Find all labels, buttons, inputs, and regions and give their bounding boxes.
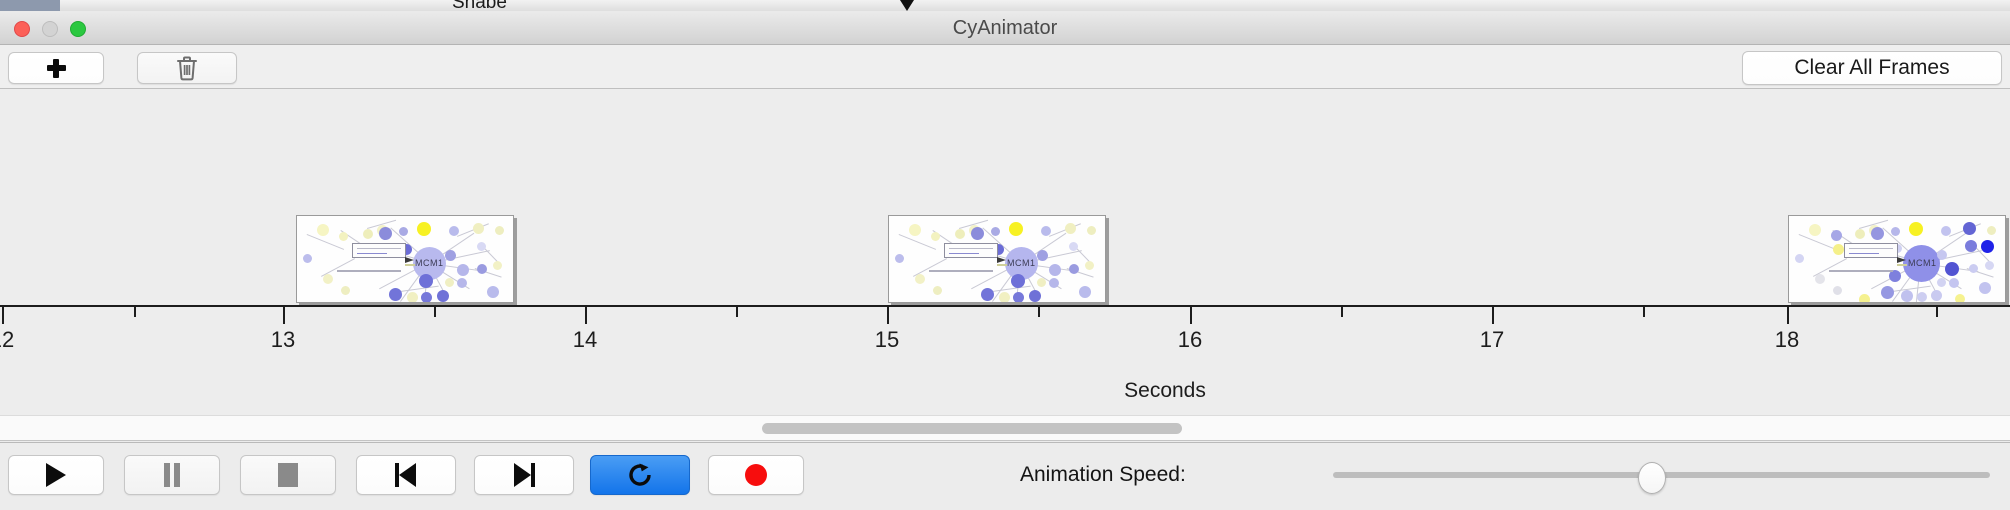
annotation-callout [1844, 243, 1898, 258]
background-window-sidebar [0, 0, 60, 11]
axis-tick-minor [1936, 307, 1938, 317]
axis-tick-label: 14 [573, 327, 597, 353]
annotation-callout [352, 243, 406, 258]
timeline-scrollbar-thumb[interactable] [762, 423, 1182, 434]
axis-tick-minor [1643, 307, 1645, 317]
skip-end-button[interactable] [474, 455, 574, 495]
toolbar: Clear All Frames [0, 45, 2010, 89]
add-frame-button[interactable] [8, 52, 104, 84]
axis-tick-minor [434, 307, 436, 317]
hub-node-label: MCM1 [1007, 258, 1036, 268]
timeline-scrollbar[interactable] [0, 415, 2010, 441]
axis-tick-major [2, 307, 4, 324]
hub-node-label: MCM1 [1908, 258, 1937, 268]
pause-icon [163, 463, 181, 487]
axis-title: Seconds [1124, 379, 1206, 403]
network-thumbnail-canvas: MCM1 [1789, 216, 2005, 302]
record-button[interactable] [708, 455, 804, 495]
background-window-label: Shape [452, 0, 507, 8]
skip-start-button[interactable] [356, 455, 456, 495]
axis-tick-major [585, 307, 587, 324]
animation-speed-label: Animation Speed: [1020, 455, 1186, 495]
clear-all-frames-button[interactable]: Clear All Frames [1742, 51, 2002, 85]
axis-tick-minor [1038, 307, 1040, 317]
slider-thumb[interactable] [1638, 462, 1666, 494]
frames-layer: MCM1 [0, 89, 2010, 304]
loop-button[interactable] [590, 455, 690, 495]
axis-tick-major [1787, 307, 1789, 324]
axis-tick-major [1492, 307, 1494, 324]
titlebar: CyAnimator [0, 11, 2010, 45]
background-window-strip: Shape [0, 0, 2010, 11]
axis-tick-minor [1341, 307, 1343, 317]
play-button[interactable] [8, 455, 104, 495]
cyanimator-window: Shape CyAnimator Clear All Frames [0, 0, 2010, 510]
timeline-panel[interactable]: MCM1 [0, 89, 2010, 415]
plus-icon [47, 59, 66, 78]
loop-icon [627, 462, 653, 488]
record-icon [745, 464, 767, 486]
trash-icon [175, 55, 199, 81]
axis-tick-label: 15 [875, 327, 899, 353]
network-thumbnail-canvas: MCM1 [297, 216, 513, 302]
axis-tick-label: 16 [1178, 327, 1202, 353]
axis-tick-major [283, 307, 285, 324]
axis-tick-label: 18 [1775, 327, 1799, 353]
timeline-axis[interactable]: 12 13 14 15 16 17 18 Seconds [0, 305, 2010, 415]
clear-all-frames-label: Clear All Frames [1794, 56, 1949, 80]
skip-to-end-icon [513, 463, 535, 487]
axis-line [0, 305, 2010, 307]
stop-button[interactable] [240, 455, 336, 495]
animation-speed-slider[interactable] [1333, 455, 1990, 495]
annotation-callout [944, 243, 998, 258]
axis-tick-label: 12 [0, 327, 14, 353]
hub-node-label: MCM1 [415, 258, 444, 268]
axis-tick-minor [736, 307, 738, 317]
stop-icon [278, 463, 298, 487]
transport-bar: Animation Speed: [0, 442, 2010, 510]
axis-tick-major [1190, 307, 1192, 324]
axis-tick-major [887, 307, 889, 324]
play-icon [46, 463, 66, 487]
network-thumbnail-canvas: MCM1 [889, 216, 1105, 302]
frame-thumbnail[interactable]: MCM1 [1788, 215, 2006, 303]
frame-thumbnail[interactable]: MCM1 [888, 215, 1106, 303]
axis-tick-minor [134, 307, 136, 317]
frame-thumbnail[interactable]: MCM1 [296, 215, 514, 303]
axis-tick-label: 13 [271, 327, 295, 353]
window-title: CyAnimator [0, 11, 2010, 45]
delete-frame-button[interactable] [137, 52, 237, 84]
skip-to-start-icon [395, 463, 417, 487]
axis-tick-label: 17 [1480, 327, 1504, 353]
pause-button[interactable] [124, 455, 220, 495]
